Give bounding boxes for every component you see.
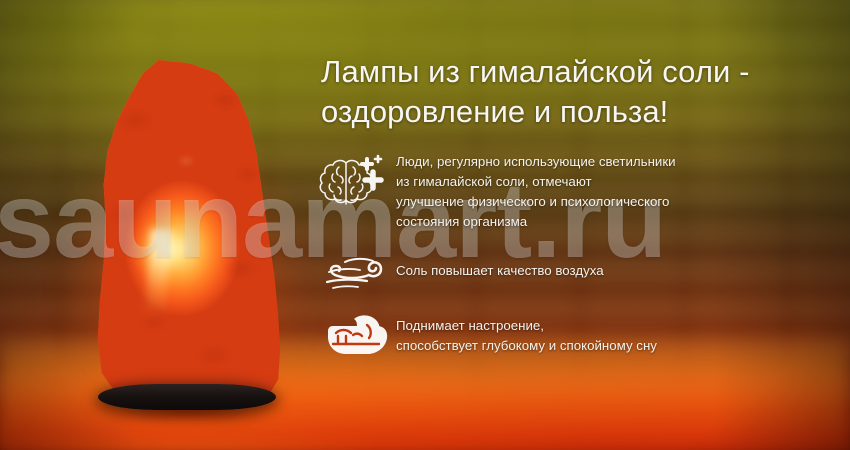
feature-text-line: Люди, регулярно использующие светильники (396, 152, 850, 172)
sleeping-person-icon (318, 308, 396, 362)
feature-text-line: состояния организма (396, 212, 850, 232)
feature-text-line: Соль повышает качество воздуха (396, 261, 850, 281)
list-item: Поднимает настроение, способствует глубо… (318, 308, 850, 362)
lamp-wooden-base (98, 384, 276, 410)
feature-text-line: улучшение физического и психологического (396, 192, 850, 212)
salt-lamp-image (64, 54, 310, 426)
wind-swirl-icon (318, 246, 396, 294)
feature-text: Соль повышает качество воздуха (396, 246, 850, 281)
list-item: Люди, регулярно использующие светильники… (318, 152, 850, 232)
banner-content: Лампы из гималайской соли - оздоровление… (318, 0, 850, 450)
headline-line-1: Лампы из гималайской соли - (321, 54, 750, 89)
brain-plus-icon (318, 152, 396, 214)
feature-text-line: Поднимает настроение, (396, 316, 850, 336)
feature-text-line: способствует глубокому и спокойному сну (396, 336, 850, 356)
feature-text-line: из гималайской соли, отмечают (396, 172, 850, 192)
headline-line-2: оздоровление и польза! (321, 92, 841, 132)
list-item: Соль повышает качество воздуха (318, 246, 850, 294)
feature-text: Люди, регулярно использующие светильники… (396, 152, 850, 232)
feature-list: Люди, регулярно использующие светильники… (318, 152, 850, 376)
salt-lamp-promo-banner: saunamart.ru Лампы из гималайской соли -… (0, 0, 850, 450)
feature-text: Поднимает настроение, способствует глубо… (396, 308, 850, 356)
page-title: Лампы из гималайской соли - оздоровление… (321, 52, 841, 131)
